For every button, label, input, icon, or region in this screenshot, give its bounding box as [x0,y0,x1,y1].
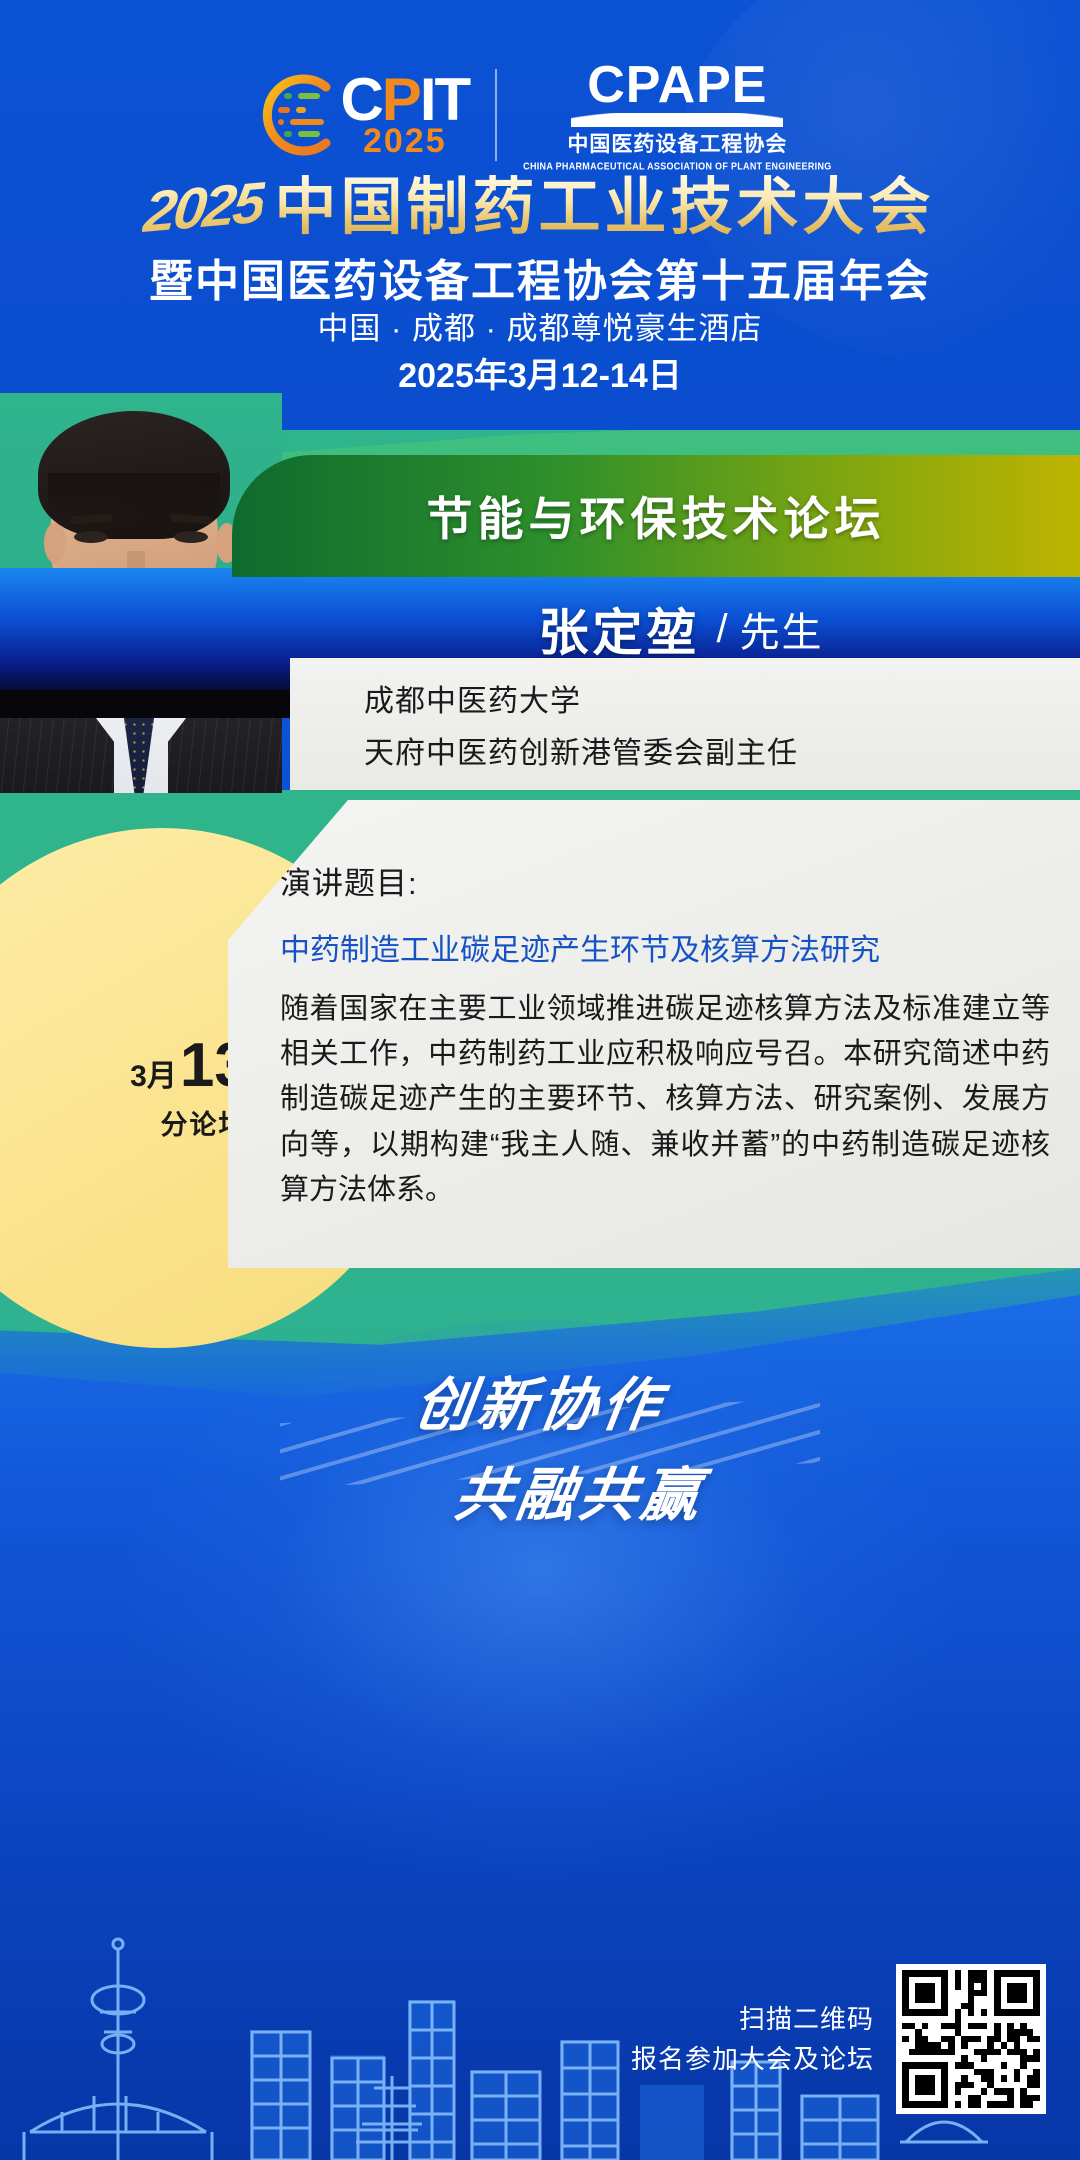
qr-code-matrix [902,1970,1040,2108]
portrait-ear-left [44,523,66,563]
qr-caption-line-1: 扫描二维码 [631,1999,874,2039]
venue-text: 中国 · 成都 · 成都尊悦豪生酒店 [0,303,1080,348]
conference-poster: CPIT 2025 CPAPE 中国医药设备工程协会 CHINA PHARMAC… [0,0,1080,2160]
portrait-eye-left [74,531,108,543]
cpit-year: 2025 [363,124,447,158]
talk-label: 演讲题目: [280,858,1060,903]
slogan-block: 创新协作 共融共赢 [0,1358,1080,1532]
cpape-swoosh-icon [571,113,783,127]
cpape-acronym: CPAPE [587,59,767,111]
qr-caption: 扫描二维码 报名参加大会及论坛 [631,1999,874,2080]
page-subtitle: 暨中国医药设备工程协会第十五届年会 [0,245,1080,309]
talk-abstract: 随着国家在主要工业领域推进碳足迹核算方法及标准建立等相关工作，中药制药工业应积极… [280,987,1050,1213]
cpape-english-name: CHINA PHARMACEUTICAL ASSOCIATION OF PLAN… [523,160,831,171]
qr-code-icon[interactable] [896,1964,1046,2114]
speaker-separator: / [716,607,727,652]
qr-block: 扫描二维码 报名参加大会及论坛 [626,1964,1046,2114]
logo-divider [495,69,497,161]
cpit-wordmark: CPIT 2025 [340,71,469,158]
affiliation-line-1: 成都中医药大学 [364,676,1080,720]
session-month: 3月 [130,1051,177,1095]
cpit-letters: CPIT [340,71,469,128]
slogan-line-1: 创新协作 [410,1358,670,1442]
forum-title: 节能与环保技术论坛 [427,483,886,549]
speaker-affiliation-box: 成都中医药大学 天府中医药创新港管委会副主任 [290,658,1080,790]
talk-title: 中药制造工业碳足迹产生环节及核算方法研究 [280,925,1060,969]
affiliation-line-2: 天府中医药创新港管委会副主任 [364,728,1080,772]
forum-banner: 节能与环保技术论坛 [232,455,1080,577]
portrait-eye-right [174,531,208,543]
main-title-row: 2025 中国制药工业技术大会 [0,175,1080,240]
cpape-chinese-name: 中国医药设备工程协会 [567,128,787,158]
slogan-line-2: 共融共赢 [450,1448,710,1532]
qr-caption-line-2: 报名参加大会及论坛 [631,2039,874,2079]
talk-content-card: 演讲题目: 中药制造工业碳足迹产生环节及核算方法研究 随着国家在主要工业领域推进… [228,800,1080,1268]
speaker-honorific: 先生 [740,600,824,658]
logo-row: CPIT 2025 CPAPE 中国医药设备工程协会 CHINA PHARMAC… [0,52,1080,177]
cpit-emblem-icon [248,67,344,163]
conference-dates: 2025年3月12-14日 [0,348,1080,397]
cpape-logo: CPAPE 中国医药设备工程协会 CHINA PHARMACEUTICAL AS… [523,59,831,171]
page-title: 中国制药工业技术大会 [275,175,935,240]
cpit-logo: CPIT 2025 [248,60,469,170]
title-year-brush: 2025 [141,174,267,242]
speaker-name: 张定堃 [538,593,700,665]
